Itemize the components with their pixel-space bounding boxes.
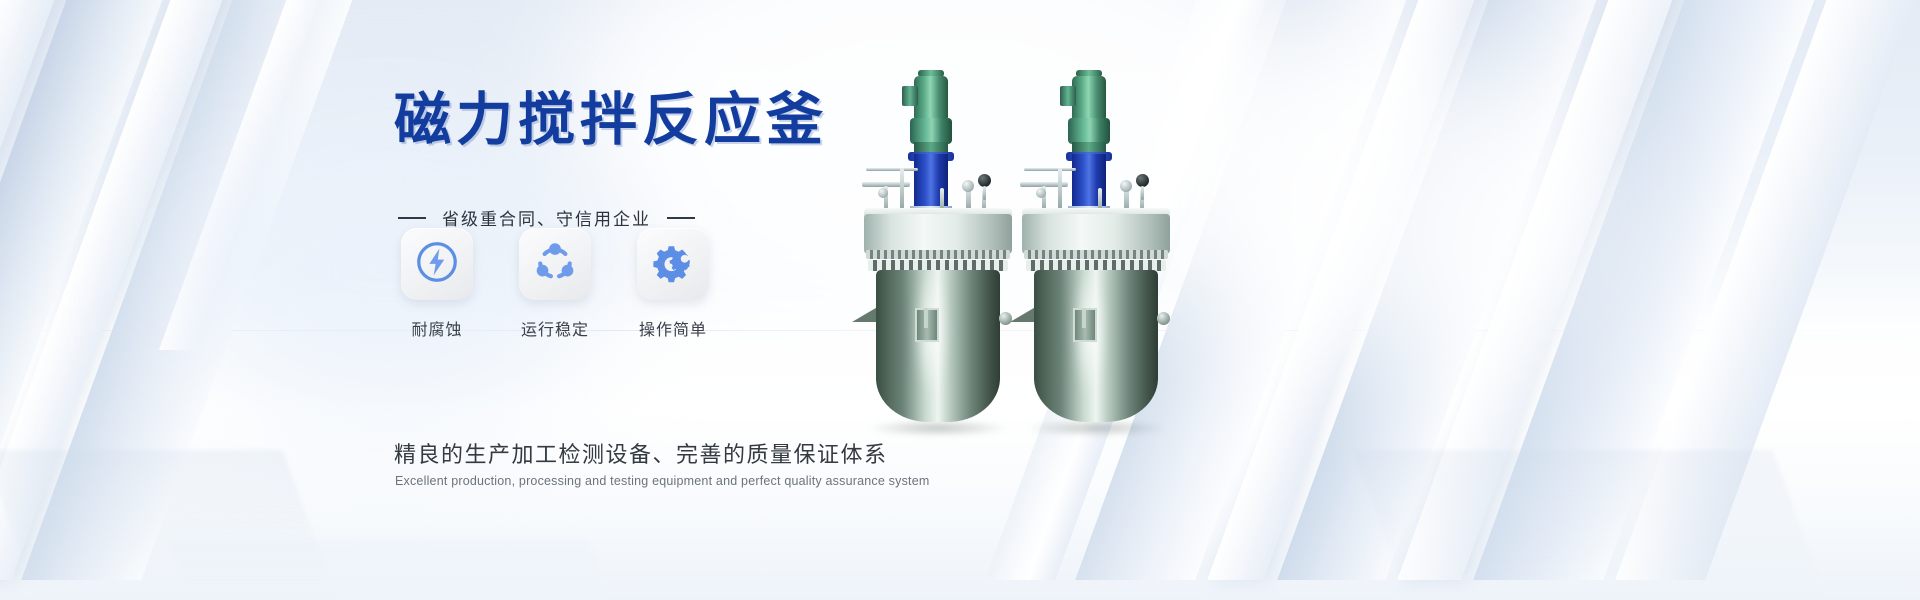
background-slab-6 xyxy=(159,0,364,350)
background-glow-right xyxy=(1180,40,1600,360)
sight-glass-window xyxy=(1073,308,1097,342)
dash-right-icon xyxy=(667,217,695,219)
subtitle-text: 省级重合同、守信用企业 xyxy=(442,205,651,230)
background-slab-5 xyxy=(21,0,396,580)
page-title: 磁力搅拌反应釜 xyxy=(394,92,828,149)
tagline-chinese: 精良的生产加工检测设备、完善的质量保证体系 xyxy=(394,437,888,469)
feature-list: 耐腐蚀 xyxy=(396,228,714,340)
feature-tile xyxy=(401,228,473,300)
background-reflection-right xyxy=(1353,450,1828,600)
gears-icon xyxy=(650,239,696,290)
background-slab-12 xyxy=(1473,0,1858,580)
magnetic-stirring-reactor-vessel-right xyxy=(1016,70,1176,430)
background-slab-3 xyxy=(0,0,206,580)
feature-label: 操作简单 xyxy=(639,316,707,340)
lightning-bolt-circle-icon xyxy=(414,239,460,290)
valve-handwheel-left xyxy=(878,188,888,198)
vessel-bolt-ring-upper xyxy=(1024,250,1168,259)
drive-motor xyxy=(914,76,948,120)
valve-handwheel-right xyxy=(962,180,974,192)
motor-junction-box xyxy=(902,86,918,106)
background-slab-11 xyxy=(1397,0,1716,580)
magnetic-stirring-reactor-vessel-left xyxy=(858,70,1018,430)
valve-handwheel-left xyxy=(1036,188,1046,198)
product-image-group xyxy=(840,0,1220,600)
valve-handwheel-right xyxy=(1120,180,1132,192)
side-nozzle xyxy=(1157,312,1170,325)
background-slab-13 xyxy=(1615,0,1920,580)
subtitle-row: 省级重合同、守信用企业 xyxy=(398,205,695,230)
gauge-stem xyxy=(983,186,986,200)
product-hero-banner: 磁力搅拌反应釜 省级重合同、守信用企业 耐腐蚀 xyxy=(0,0,1920,600)
gauge-stem xyxy=(1141,186,1144,200)
sight-glass-window xyxy=(915,308,939,342)
background-slab-10 xyxy=(1277,0,1640,580)
pipe-vertical-left xyxy=(1058,168,1062,212)
motor-junction-box xyxy=(1060,86,1076,106)
background-slab-4 xyxy=(0,0,266,580)
feature-item-stable-operation[interactable]: 运行稳定 xyxy=(514,228,596,340)
drive-motor xyxy=(1072,76,1106,120)
feature-item-corrosion-resistant[interactable]: 耐腐蚀 xyxy=(396,228,478,340)
vessel-lid xyxy=(864,214,1012,254)
share-nodes-icon xyxy=(532,239,578,290)
vessel-ground-shadow xyxy=(868,420,1008,436)
banner-content: 磁力搅拌反应釜 省级重合同、守信用企业 耐腐蚀 xyxy=(392,0,862,600)
feature-label: 运行稳定 xyxy=(521,316,589,340)
background-reflection-left xyxy=(0,450,337,600)
background-slab-1 xyxy=(0,0,30,580)
feature-tile xyxy=(637,228,709,300)
vessel-bolt-ring-upper xyxy=(866,250,1010,259)
gearbox xyxy=(1068,118,1110,144)
pipe-horizontal-top xyxy=(866,168,918,171)
gearbox xyxy=(910,118,952,144)
vessel-ground-shadow xyxy=(1026,420,1166,436)
pipe-horizontal-top xyxy=(1024,168,1076,171)
feature-tile xyxy=(519,228,591,300)
pipe-vertical-left xyxy=(900,168,904,212)
vessel-lid xyxy=(1022,214,1170,254)
background-slab-9 xyxy=(1207,0,1518,580)
dash-left-icon xyxy=(398,217,426,219)
feature-label: 耐腐蚀 xyxy=(411,316,462,340)
feature-item-simple-operation[interactable]: 操作简单 xyxy=(632,228,714,340)
background-slab-2 xyxy=(0,0,98,580)
